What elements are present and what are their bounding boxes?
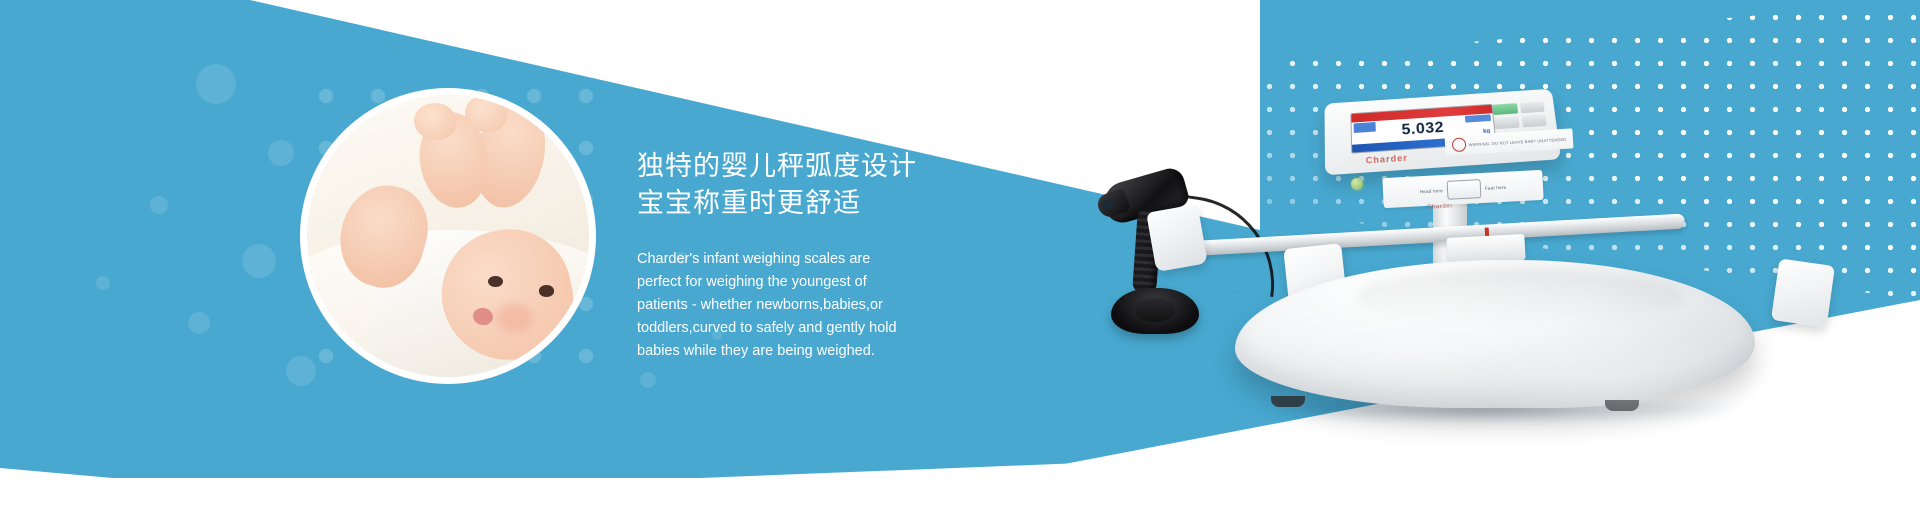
key-1[interactable]: [1519, 101, 1544, 113]
baby-position-diagram: [1446, 179, 1481, 200]
key-3[interactable]: [1521, 115, 1547, 127]
head-stop-panel: [1146, 204, 1208, 272]
baby-photo: [307, 95, 589, 377]
promo-banner: 独特的婴儿秤弧度设计 宝宝称重时更舒适 Charder's infant wei…: [0, 0, 1920, 530]
headline-line-2: 宝宝称重时更舒适: [637, 185, 967, 222]
copy-block: 独特的婴儿秤弧度设计 宝宝称重时更舒适 Charder's infant wei…: [637, 148, 967, 363]
product-highlight-glow: [1475, 318, 1775, 458]
label-head-text: Head here: [1420, 188, 1443, 194]
label-foot-text: Feet here: [1485, 184, 1507, 190]
warning-icon: [1451, 137, 1466, 152]
baby-photo-circle: [300, 88, 596, 384]
description-paragraph: Charder's infant weighing scales are per…: [637, 248, 909, 363]
status-led: [1351, 178, 1363, 190]
headline-line-1: 独特的婴儿秤弧度设计: [637, 148, 967, 185]
key-power[interactable]: [1492, 103, 1517, 115]
infant-scale-product: 5.032 kg Charder WARNI: [1175, 78, 1825, 408]
headline: 独特的婴儿秤弧度设计 宝宝称重时更舒适: [637, 148, 967, 222]
warning-sticker-text: WARNING: DO NOT LEAVE BABY UNATTENDED: [1468, 136, 1566, 146]
scale-foot-left: [1271, 396, 1305, 407]
positioning-label: Head here Feet here: [1382, 170, 1543, 208]
measuring-rod: [1165, 213, 1685, 257]
key-2[interactable]: [1494, 117, 1519, 129]
display-brand-logo: Charder: [1366, 153, 1409, 166]
side-paddle-right: [1771, 258, 1835, 327]
